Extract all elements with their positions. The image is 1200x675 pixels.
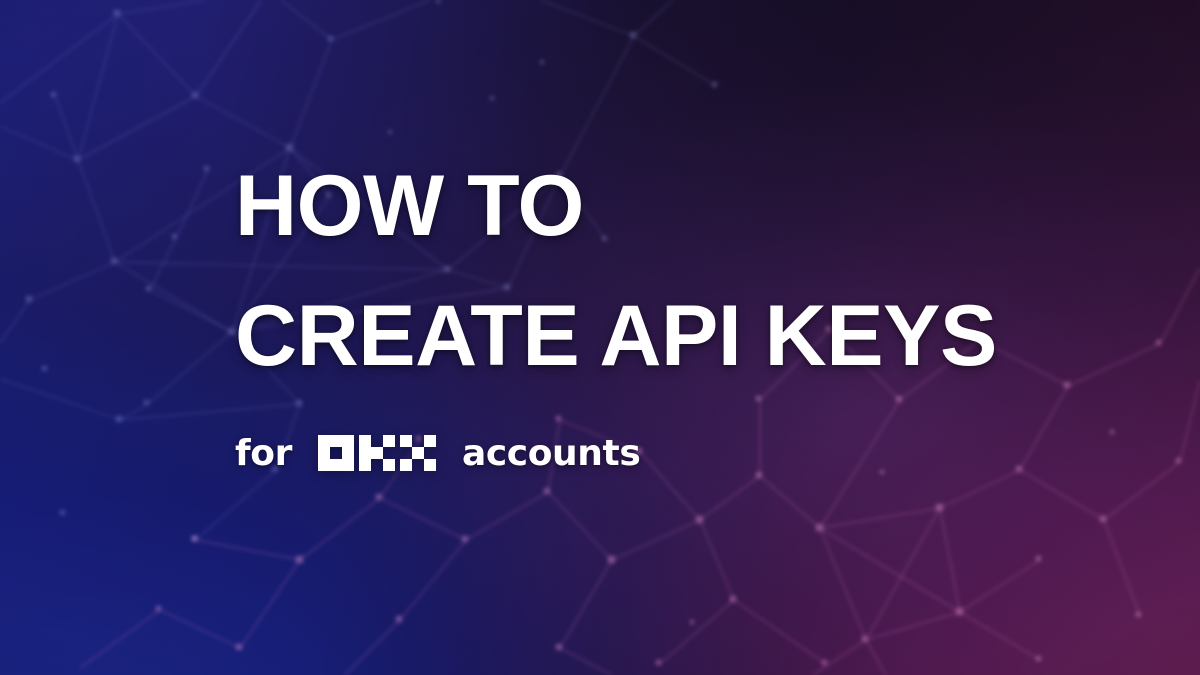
headline-line-2: CREATE API KEYS bbox=[235, 296, 1135, 378]
subtitle-prefix: for bbox=[235, 433, 292, 474]
title-card: HOW TO CREATE API KEYS for bbox=[0, 0, 1200, 675]
title-content: HOW TO CREATE API KEYS for bbox=[235, 166, 1135, 474]
okx-logo bbox=[318, 435, 436, 472]
headline-line-1: HOW TO bbox=[235, 166, 1135, 248]
subtitle-suffix: accounts bbox=[462, 433, 640, 474]
subtitle-row: for bbox=[235, 433, 1135, 474]
